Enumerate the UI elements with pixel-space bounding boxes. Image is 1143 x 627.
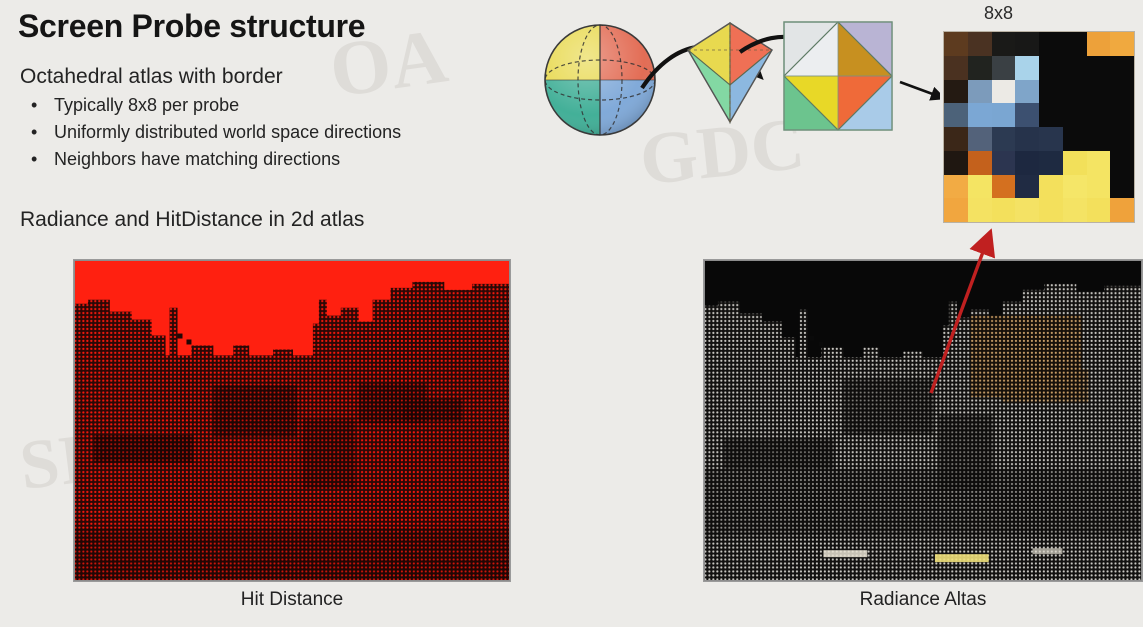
atlas-pixel-1-5 [1063, 56, 1087, 80]
atlas-pixel-5-5 [1063, 151, 1087, 175]
atlas-pixel-4-1 [968, 127, 992, 151]
atlas-pixel-6-4 [1039, 175, 1063, 199]
atlas-pixel-4-7 [1110, 127, 1134, 151]
bullet-list: • Typically 8x8 per probe • Uniformly di… [22, 92, 401, 173]
octahedron-illustration [688, 23, 772, 122]
atlas-pixel-4-5 [1063, 127, 1087, 151]
atlas-pixel-3-1 [968, 103, 992, 127]
hit-distance-render [74, 260, 510, 581]
atlas-pixel-5-7 [1110, 151, 1134, 175]
atlas-pixel-6-2 [992, 175, 1016, 199]
atlas-pixel-3-6 [1087, 103, 1111, 127]
atlas-pixel-0-2 [992, 32, 1016, 56]
atlas-pixel-2-7 [1110, 80, 1134, 104]
atlas-pixel-2-4 [1039, 80, 1063, 104]
slide-title: Screen Probe structure [18, 8, 365, 45]
atlas-pixel-1-2 [992, 56, 1016, 80]
atlas-pixel-0-4 [1039, 32, 1063, 56]
unfolded-atlas-illustration [784, 22, 892, 130]
octahedral-mapping-diagram [540, 10, 940, 160]
atlas-pixel-3-7 [1110, 103, 1134, 127]
atlas-pixel-2-0 [944, 80, 968, 104]
atlas-pixel-5-6 [1087, 151, 1111, 175]
list-item: • Neighbors have matching directions [22, 146, 401, 173]
atlas-pixel-2-5 [1063, 80, 1087, 104]
atlas-pixel-0-1 [968, 32, 992, 56]
atlas-pixel-0-5 [1063, 32, 1087, 56]
hit-distance-caption: Hit Distance [73, 589, 511, 611]
slide-canvas: OA GDC SIG 2021 Screen Probe structure O… [0, 0, 1143, 627]
radiance-atlas-render [704, 260, 1142, 581]
atlas-pixel-1-4 [1039, 56, 1063, 80]
atlas-pixel-2-6 [1087, 80, 1111, 104]
atlas-pixel-2-3 [1015, 80, 1039, 104]
atlas-pixel-7-2 [992, 198, 1016, 222]
atlas-pixel-5-0 [944, 151, 968, 175]
atlas-pixel-2-1 [968, 80, 992, 104]
atlas-pixel-0-6 [1087, 32, 1111, 56]
lead-line: Octahedral atlas with border [20, 65, 283, 89]
atlas-pixel-1-6 [1087, 56, 1111, 80]
atlas-pixel-7-7 [1110, 198, 1134, 222]
list-item: • Typically 8x8 per probe [22, 92, 401, 119]
atlas-pixel-1-1 [968, 56, 992, 80]
atlas-pixel-5-1 [968, 151, 992, 175]
atlas-pixel-4-6 [1087, 127, 1111, 151]
atlas-pixel-1-3 [1015, 56, 1039, 80]
subheading: Radiance and HitDistance in 2d atlas [20, 208, 364, 232]
hit-distance-panel: Hit Distance [73, 259, 511, 582]
bullet-marker-icon: • [31, 119, 37, 146]
atlas-pixel-3-3 [1015, 103, 1039, 127]
bullet-marker-icon: • [31, 146, 37, 173]
list-item: • Uniformly distributed world space dire… [22, 119, 401, 146]
atlas-pixel-0-3 [1015, 32, 1039, 56]
atlas-pixel-6-3 [1015, 175, 1039, 199]
atlas-pixel-5-3 [1015, 151, 1039, 175]
atlas-pixel-4-4 [1039, 127, 1063, 151]
atlas-pixel-7-1 [968, 198, 992, 222]
atlas-pixel-5-4 [1039, 151, 1063, 175]
atlas-pixel-4-0 [944, 127, 968, 151]
atlas-pixel-6-7 [1110, 175, 1134, 199]
list-item-label: Typically 8x8 per probe [54, 95, 239, 115]
radiance-atlas-panel: Radiance Altas [703, 259, 1143, 582]
list-item-label: Uniformly distributed world space direct… [54, 122, 401, 142]
bullet-marker-icon: • [31, 92, 37, 119]
list-item-label: Neighbors have matching directions [54, 149, 340, 169]
atlas-pixel-2-2 [992, 80, 1016, 104]
atlas-texture-8x8 [943, 31, 1135, 223]
hit-distance-image [73, 259, 511, 582]
atlas-pixel-6-0 [944, 175, 968, 199]
atlas-pixel-3-0 [944, 103, 968, 127]
atlas-pixel-6-1 [968, 175, 992, 199]
atlas-pixel-7-6 [1087, 198, 1111, 222]
atlas-pixel-6-6 [1087, 175, 1111, 199]
atlas-pixel-7-4 [1039, 198, 1063, 222]
atlas-pixel-6-5 [1063, 175, 1087, 199]
atlas-pixel-7-5 [1063, 198, 1087, 222]
atlas-pixel-1-0 [944, 56, 968, 80]
mapping-diagram-svg [540, 10, 940, 160]
atlas-pixel-0-0 [944, 32, 968, 56]
atlas-pixel-3-5 [1063, 103, 1087, 127]
radiance-atlas-caption: Radiance Altas [703, 589, 1143, 611]
atlas-pixel-5-2 [992, 151, 1016, 175]
atlas-pixel-3-2 [992, 103, 1016, 127]
atlas-pixel-1-7 [1110, 56, 1134, 80]
atlas-pixel-3-4 [1039, 103, 1063, 127]
atlas-pixel-4-2 [992, 127, 1016, 151]
atlas-pixel-4-3 [1015, 127, 1039, 151]
atlas-pixel-0-7 [1110, 32, 1134, 56]
atlas-pixel-7-0 [944, 198, 968, 222]
radiance-atlas-image [703, 259, 1143, 582]
arrow-square-to-atlas [900, 82, 938, 96]
atlas-size-label: 8x8 [984, 3, 1013, 24]
atlas-pixel-7-3 [1015, 198, 1039, 222]
